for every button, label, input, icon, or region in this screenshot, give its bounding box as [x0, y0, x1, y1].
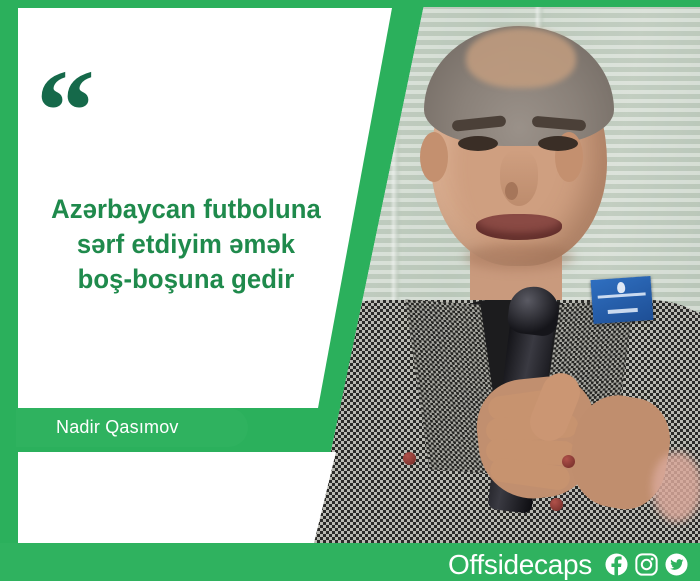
footer-bottom-line [0, 581, 700, 586]
top-green-strip [0, 0, 700, 7]
jacket-button [550, 498, 563, 511]
quote-text: Azərbaycan futboluna sərf etdiyim əmək b… [26, 192, 345, 297]
mouth [476, 214, 562, 240]
twitter-icon[interactable] [665, 553, 688, 576]
attribution-pill: Nadir Qasımov [16, 408, 248, 447]
instagram-icon[interactable] [635, 553, 658, 576]
name-badge [591, 276, 654, 324]
attribution-name: Nadir Qasımov [56, 417, 179, 438]
eye-left [458, 136, 498, 151]
jacket-button [562, 455, 575, 468]
forehead-highlight [466, 28, 576, 88]
facial-mole [505, 182, 518, 200]
chin-shadow [464, 244, 574, 270]
wall-seam-left [392, 0, 399, 330]
left-green-rail [0, 0, 16, 586]
quote-graphic-card: “ Azərbaycan futboluna sərf etdiyim əmək… [0, 0, 700, 586]
quotation-mark-icon: “ [36, 52, 93, 170]
badge-logo-icon [617, 282, 626, 294]
badge-org-line [598, 292, 646, 298]
badge-name-line [608, 308, 638, 314]
facebook-icon[interactable] [605, 553, 628, 576]
quote-line-1: Azərbaycan futboluna [26, 192, 345, 227]
jacket-button [403, 452, 416, 465]
ear-left [420, 132, 448, 182]
background-figure [652, 452, 700, 522]
brand-name: Offsidecaps [448, 549, 592, 581]
quote-line-2: sərf etdiyim əmək [26, 227, 345, 262]
eye-right [538, 136, 578, 151]
footer-bar: Offsidecaps [0, 543, 700, 586]
quote-line-3: boş-boşuna gedir [26, 262, 345, 297]
nose [500, 150, 538, 206]
quote-panel-lower [18, 452, 336, 543]
